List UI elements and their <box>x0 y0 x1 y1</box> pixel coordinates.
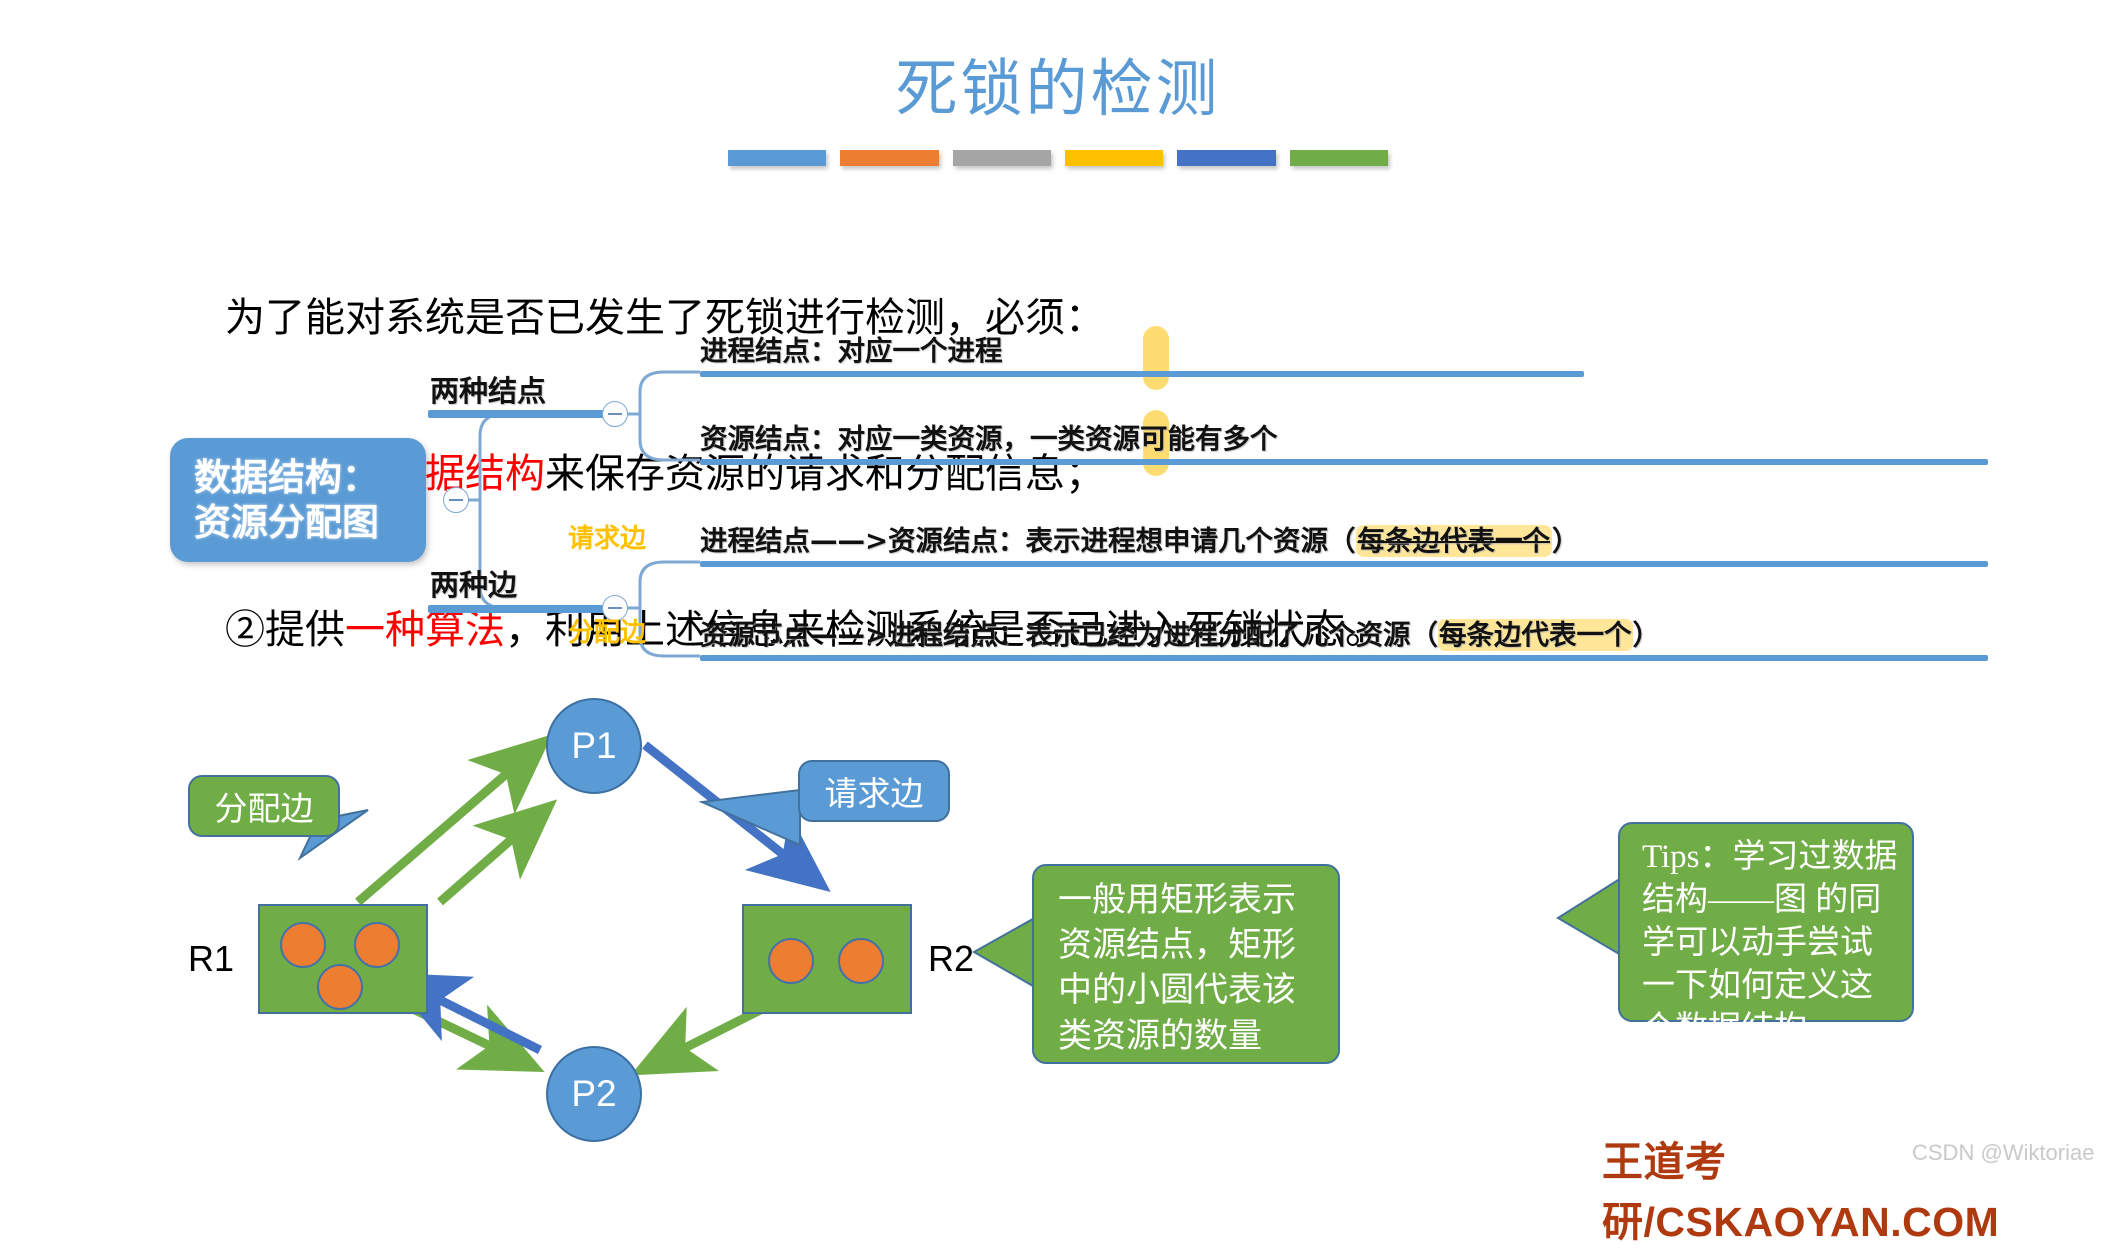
resource-box-r2[interactable] <box>742 904 912 1014</box>
resource-label-r1: R1 <box>188 938 234 980</box>
collapse-toggle-root[interactable] <box>443 487 469 513</box>
slide-canvas: 死锁的检测 为了能对系统是否已发生了死锁进行检测，必须： ①用某种数据结构来保存… <box>0 0 2116 1182</box>
page-title: 死锁的检测 <box>0 38 2116 128</box>
callout-request-edge: 请求边 <box>798 760 950 822</box>
mindmap-edge-tag-request: 请求边 <box>568 518 646 555</box>
mindmap-branch-1-underline <box>428 410 614 418</box>
mindmap-branch-2-item-1-underline <box>700 561 1988 567</box>
accent-bar-6 <box>1290 150 1388 166</box>
mindmap-root-node[interactable]: 数据结构： 资源分配图 <box>170 438 426 562</box>
accent-bar-1 <box>728 150 826 166</box>
tips-line-1: Tips：学习过数据 <box>1642 836 1912 879</box>
mindmap-item-1-highlight: 每条边代表一个 <box>1356 525 1553 557</box>
confused-face-emoji <box>1288 703 1470 885</box>
tips-line-5: 个数据结构 <box>1642 1008 1912 1051</box>
tips-line-2: 结构——图 的同 <box>1642 879 1912 922</box>
mindmap-branch-1-item-2: 资源结点：对应一类资源，一类资源可能有多个 <box>700 416 1278 456</box>
callout-assignment-edge: 分配边 <box>188 775 340 837</box>
mindmap-branch-1-label: 两种结点 <box>430 368 546 410</box>
resource-dot <box>317 964 363 1010</box>
mindmap-branch-2-item-2-underline <box>700 655 1988 661</box>
watermark: CSDN @Wiktoriae <box>1912 1140 2094 1166</box>
resource-dot <box>354 922 400 968</box>
accent-bar-3 <box>953 150 1051 166</box>
mindmap: 数据结构： 资源分配图 两种结点 进程结点：对应一个进程 资源结点：对应一类资源… <box>0 330 2116 690</box>
callout-tips: Tips：学习过数据 结构——图 的同 学可以动手尝试 一下如何定义这 个数据结… <box>1618 822 1914 1022</box>
mindmap-root-line2: 资源分配图 <box>170 500 426 545</box>
resource-box-r1[interactable] <box>258 904 428 1014</box>
accent-bar-5 <box>1177 150 1275 166</box>
highlight-pill-1 <box>1143 326 1169 390</box>
mindmap-item-2-highlight: 每条边代表一个 <box>1438 619 1633 651</box>
mindmap-branch-1-item-1-underline <box>700 371 1584 377</box>
resource-allocation-graph: P1 P2 R1 R2 分配边 请求边 一般用矩形表示 资源结点，矩形 中的小圆… <box>0 690 2116 1110</box>
mindmap-branch-2-item-1: 进程结点——>资源结点：表示进程想申请几个资源（每条边代表一个） <box>700 518 1580 558</box>
collapse-toggle-branch-1[interactable] <box>602 401 628 427</box>
accent-bar-4 <box>1065 150 1163 166</box>
resource-dot <box>768 938 814 984</box>
mindmap-branch-2-label: 两种边 <box>430 562 517 604</box>
mindmap-branch-1-item-1: 进程结点：对应一个进程 <box>700 328 1003 368</box>
mindmap-root-line1: 数据结构： <box>170 455 426 500</box>
mindmap-branch-1-item-2-underline <box>700 459 1988 465</box>
accent-bar-group <box>728 150 1388 168</box>
process-node-p2[interactable]: P2 <box>546 1046 642 1142</box>
rect-note-line-2: 资源结点，矩形 <box>1058 923 1338 968</box>
callout-rect-note: 一般用矩形表示 资源结点，矩形 中的小圆代表该 类资源的数量 <box>1032 864 1340 1064</box>
rect-note-line-1: 一般用矩形表示 <box>1058 878 1338 923</box>
tips-line-3: 学可以动手尝试 <box>1642 922 1912 965</box>
process-node-p1[interactable]: P1 <box>546 698 642 794</box>
tips-line-4: 一下如何定义这 <box>1642 965 1912 1008</box>
rect-note-line-4: 类资源的数量 <box>1058 1014 1338 1059</box>
resource-label-r2: R2 <box>928 938 974 980</box>
resource-dot <box>838 938 884 984</box>
resource-dot <box>280 922 326 968</box>
rect-note-line-3: 中的小圆代表该 <box>1058 968 1338 1013</box>
mindmap-edge-tag-assignment: 分配边 <box>568 612 646 649</box>
mindmap-branch-2-item-2: 资源节点——>进程结点：表示已经为进程分配了几个资源（每条边代表一个） <box>700 612 1660 652</box>
accent-bar-2 <box>840 150 938 166</box>
